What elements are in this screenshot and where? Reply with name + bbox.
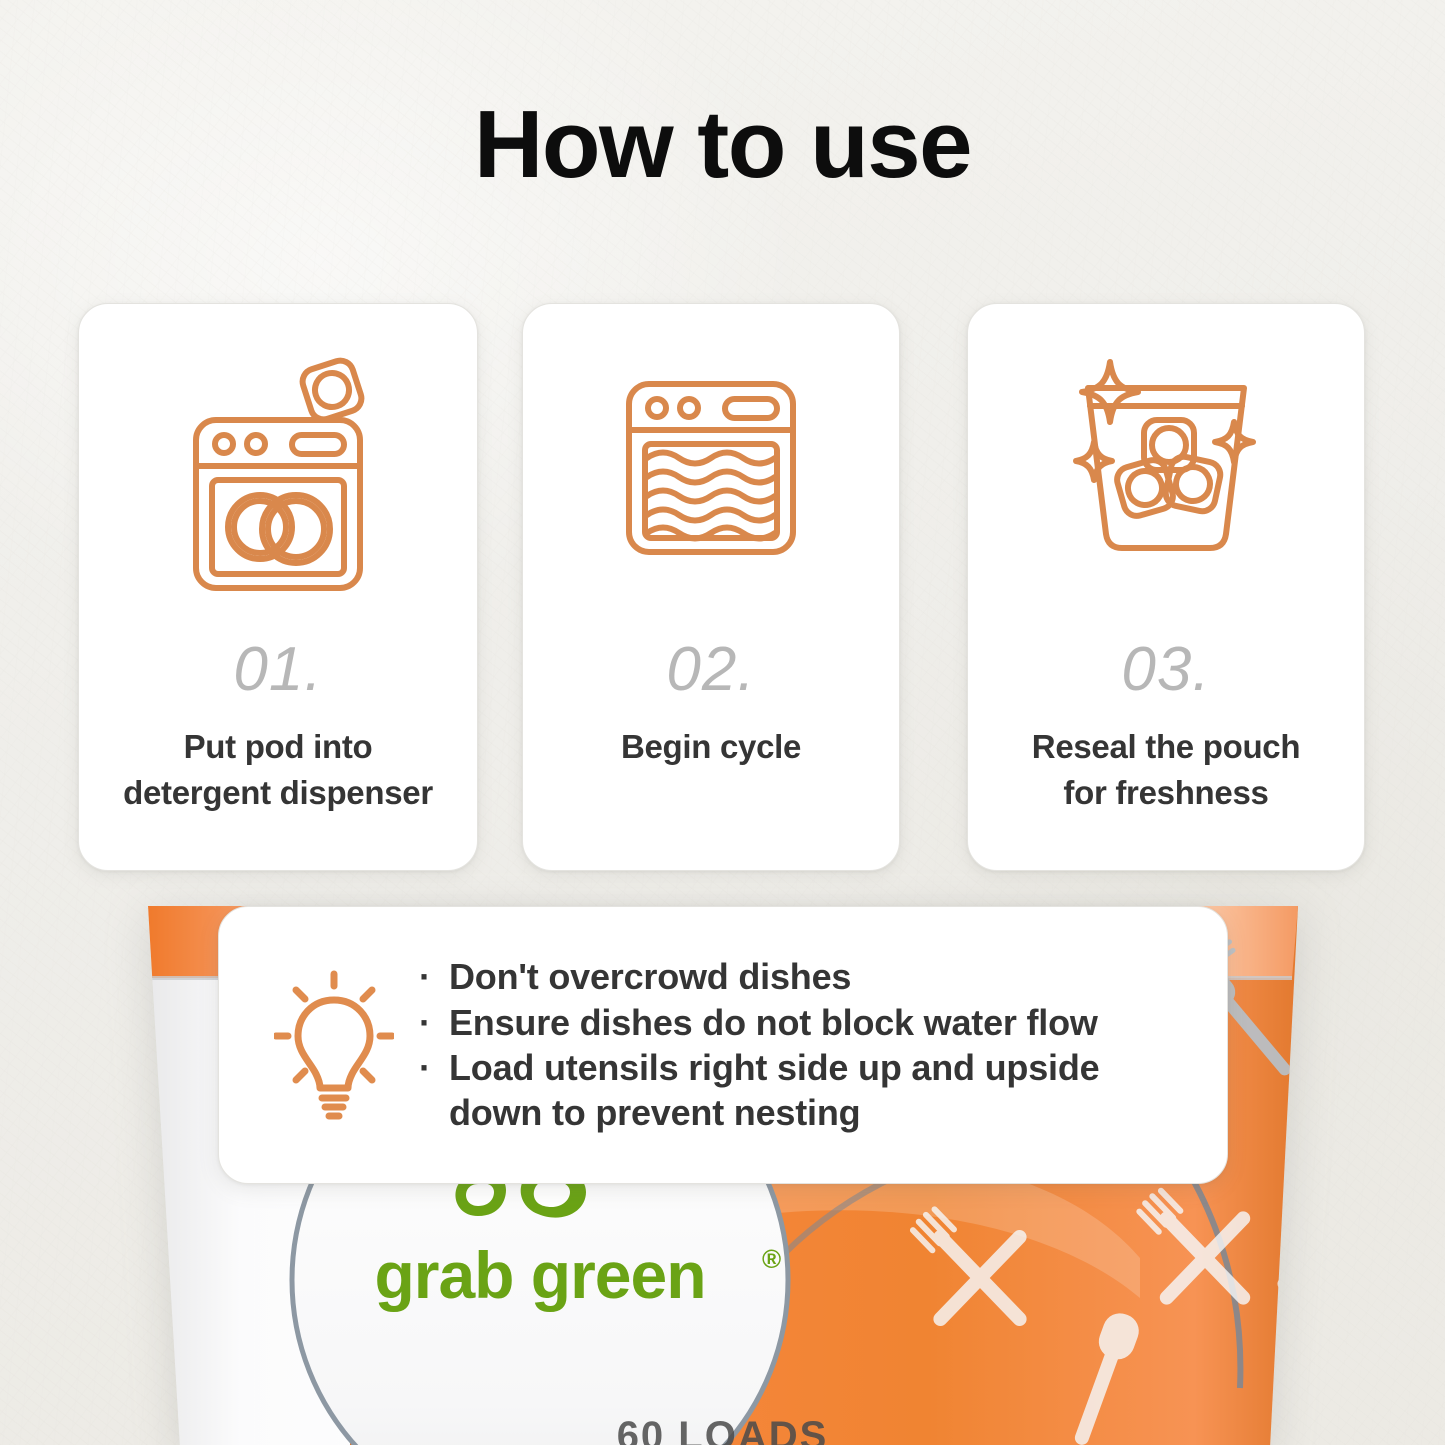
- tip-bullet: ·: [419, 1045, 449, 1090]
- tip-text: Load utensils right side up and upside d…: [449, 1045, 1183, 1136]
- step-card-3: 03. Reseal the pouch for freshness: [967, 303, 1365, 871]
- step-number: 03.: [968, 634, 1364, 705]
- tips-list: · Don't overcrowd dishes · Ensure dishes…: [409, 954, 1183, 1135]
- tip-item: · Ensure dishes do not block water flow: [419, 1000, 1183, 1045]
- lightbulb-icon: [259, 970, 409, 1120]
- tip-text: Ensure dishes do not block water flow: [449, 1000, 1183, 1045]
- step-label: Put pod into detergent dispenser: [89, 724, 467, 815]
- svg-text:®: ®: [762, 1244, 781, 1274]
- step-number: 01.: [79, 634, 477, 705]
- tips-card: · Don't overcrowd dishes · Ensure dishes…: [218, 906, 1228, 1184]
- dishwasher-running-icon: [523, 344, 899, 594]
- step-number: 02.: [523, 634, 899, 705]
- tip-text: Don't overcrowd dishes: [449, 954, 1183, 999]
- step-label: Begin cycle: [533, 724, 889, 770]
- step-label: Reseal the pouch for freshness: [978, 724, 1354, 815]
- pack-loads-text: 60 LOADS: [0, 1414, 1445, 1445]
- svg-text:grab green: grab green: [374, 1238, 705, 1312]
- dishwasher-with-pod-icon: [79, 344, 477, 594]
- page-title: How to use: [0, 95, 1445, 196]
- step-card-2: 02. Begin cycle: [522, 303, 900, 871]
- tip-item: · Load utensils right side up and upside…: [419, 1045, 1183, 1136]
- resealable-pouch-with-pods-icon: [968, 344, 1364, 594]
- tip-item: · Don't overcrowd dishes: [419, 954, 1183, 999]
- step-card-1: 01. Put pod into detergent dispenser: [78, 303, 478, 871]
- tip-bullet: ·: [419, 954, 449, 999]
- tip-bullet: ·: [419, 1000, 449, 1045]
